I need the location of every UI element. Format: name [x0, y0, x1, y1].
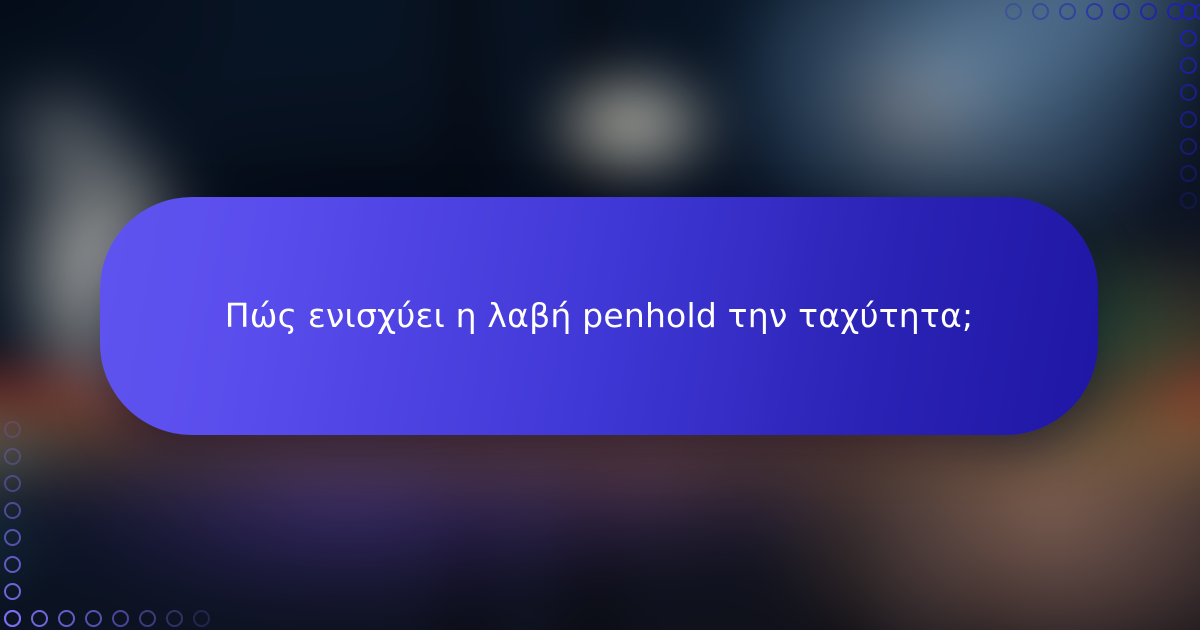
- question-text: Πώς ενισχύει η λαβή penhold την ταχύτητα…: [225, 295, 974, 338]
- question-card: Πώς ενισχύει η λαβή penhold την ταχύτητα…: [100, 197, 1098, 435]
- question-card-graphic: Πώς ενισχύει η λαβή penhold την ταχύτητα…: [0, 0, 1200, 630]
